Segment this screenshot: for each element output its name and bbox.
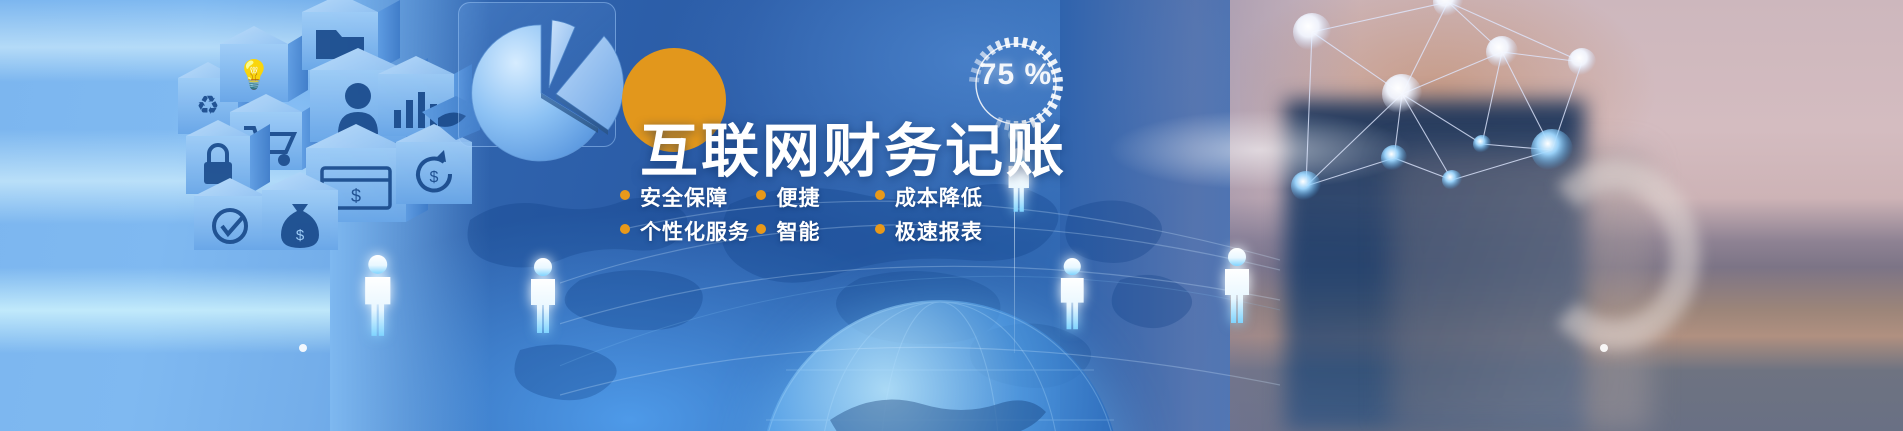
person-pictogram [1225, 248, 1249, 323]
person-pictogram [531, 258, 555, 333]
bullet-dot-icon [756, 190, 766, 200]
feature-row-2: 个性化服务 智能 极速报表 [620, 216, 983, 246]
feature-label: 智能 [776, 216, 820, 246]
bullet-dot-icon [875, 224, 885, 234]
feature-row-1: 安全保障 便捷 成本降低 [620, 182, 983, 212]
feature-label: 个性化服务 [640, 216, 750, 246]
bullet-dot-icon [756, 224, 766, 234]
feature-label: 成本降低 [895, 182, 983, 212]
person-pictogram [365, 255, 390, 336]
bullet-dot-icon [875, 190, 885, 200]
page-title: 互联网财务记账 [640, 104, 1067, 188]
feature-item: 安全保障 [620, 182, 752, 212]
feature-item: 极速报表 [875, 216, 983, 246]
feature-item: 个性化服务 [620, 216, 752, 246]
feature-item: 成本降低 [875, 182, 983, 212]
person-pictogram [1061, 258, 1084, 329]
bullet-dot-icon [620, 190, 630, 200]
marketing-banner: ♻ 💡 [0, 0, 1903, 431]
feature-item: 便捷 [756, 182, 870, 212]
feature-label: 便捷 [776, 182, 820, 212]
feature-item: 智能 [756, 216, 870, 246]
feature-label: 安全保障 [640, 182, 728, 212]
bullet-dot-icon [620, 224, 630, 234]
feature-label: 极速报表 [895, 216, 983, 246]
